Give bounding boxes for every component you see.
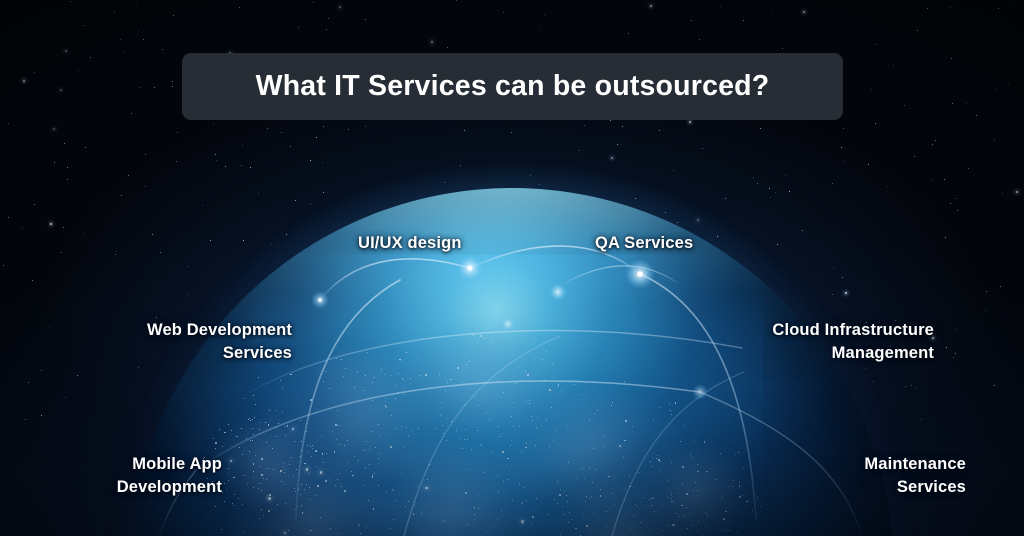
service-label-maintenance: Maintenance Services [780, 453, 966, 500]
service-label-mobile-app: Mobile App Development [20, 453, 222, 500]
title-banner: What IT Services can be outsourced? [182, 53, 843, 120]
service-label-web-development: Web Development Services [56, 319, 292, 366]
infographic-canvas: What IT Services can be outsourced? UI/U… [0, 0, 1024, 536]
service-label-cloud-infrastructure: Cloud Infrastructure Management [718, 319, 934, 366]
service-label-uiux: UI/UX design [358, 232, 462, 255]
service-label-qa: QA Services [595, 232, 693, 255]
page-title: What IT Services can be outsourced? [256, 70, 770, 103]
